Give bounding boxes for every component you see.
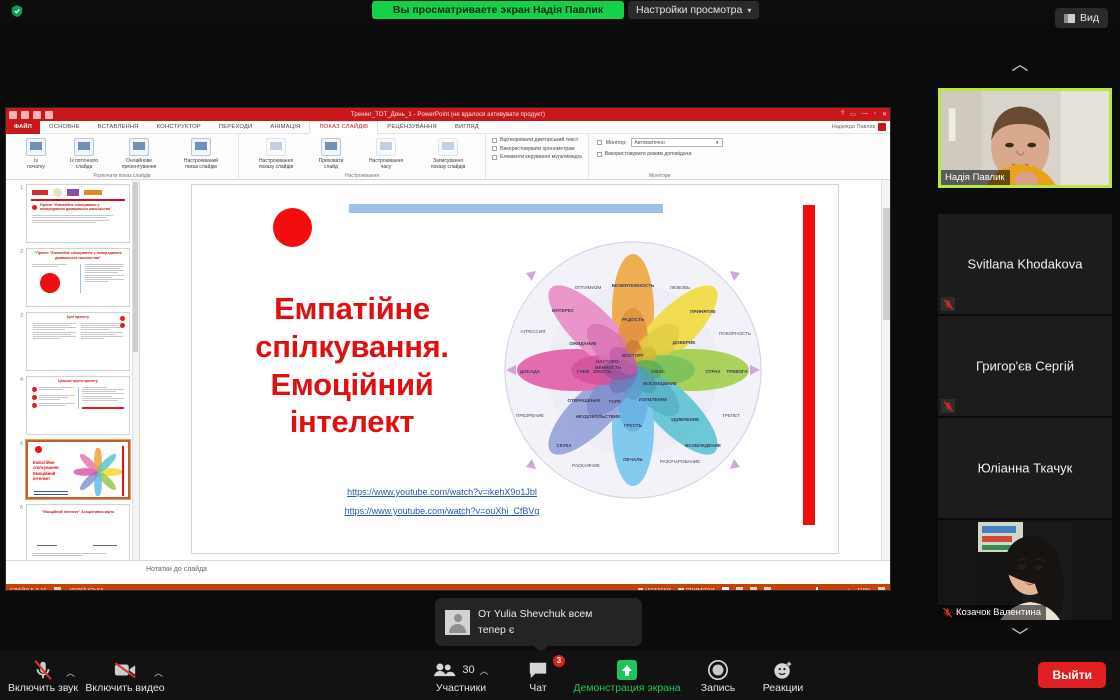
svg-text:ГНЕВ: ГНЕВ bbox=[577, 369, 590, 374]
checkbox-icon bbox=[597, 152, 602, 157]
svg-text:БЕЗМЯТЕЖНОСТЬ: БЕЗМЯТЕЖНОСТЬ bbox=[612, 283, 655, 288]
grid-view-icon bbox=[1064, 14, 1075, 23]
thumbnail-title: Цілі проекту bbox=[27, 313, 129, 320]
office-account[interactable]: Надежда Павлик bbox=[832, 123, 886, 131]
status-right[interactable]: НОТАТКИ ПРИМІТКИ − + 110% bbox=[638, 587, 885, 590]
smiley-plus-icon bbox=[740, 658, 826, 682]
from-current-slide-icon bbox=[74, 138, 94, 156]
present-online-label: Онлайнове презентування bbox=[122, 158, 156, 170]
chevron-down-icon: ▾ bbox=[747, 6, 751, 15]
thumbnail-number: 5 bbox=[16, 440, 23, 447]
checkbox-presenter-view[interactable]: Використовувати режим доповідача bbox=[597, 151, 723, 157]
participant-name: Козачок Валентина bbox=[956, 607, 1041, 618]
participant-name: Надія Павлик bbox=[945, 172, 1005, 183]
view-button-label: Вид bbox=[1080, 12, 1099, 24]
checkbox-media-controls[interactable]: Елементи керування мультимедіа bbox=[492, 154, 582, 160]
record-show-label: Записування показу слайдів bbox=[431, 158, 465, 170]
hide-slide-label: Приховати слайд bbox=[319, 158, 344, 170]
svg-text:ГРУСТЬ: ГРУСТЬ bbox=[624, 423, 642, 428]
view-reading-icon[interactable] bbox=[750, 587, 757, 590]
maximize-icon[interactable]: ▫ bbox=[874, 111, 876, 118]
slide-thumbnail-5-selected[interactable]: Емпатійне спілкування. Емоційний інтелек… bbox=[26, 440, 130, 499]
monitor-label: Монітор: bbox=[606, 140, 627, 146]
emotion-wheel-chart: РАДОСТЬ ДОВЕРИЕ СТРАХ УДИВЛЕНИЕ ГРУСТЬ О… bbox=[488, 225, 778, 515]
ribbon-button-from-current[interactable]: Із поточного слайда bbox=[60, 136, 108, 171]
monitor-icon bbox=[597, 140, 602, 145]
svg-text:НЕУДОВОЛЬСТВИЕ: НЕУДОВОЛЬСТВИЕ bbox=[576, 414, 621, 419]
ribbon-tab-animations[interactable]: АНІМАЦІЯ bbox=[261, 121, 309, 134]
svg-text:СКУКА: СКУКА bbox=[556, 443, 572, 448]
svg-text:ПРИНЯТИЕ: ПРИНЯТИЕ bbox=[690, 309, 715, 314]
thumbnail-title: "Емоційний інтелект" Асоціативна карта bbox=[27, 505, 129, 515]
slide-decor-red-circle bbox=[273, 208, 312, 247]
slide-counter: СЛАЙД 5 З 16 bbox=[10, 588, 46, 591]
participants-icon: 30 ︿ bbox=[418, 658, 504, 682]
thumbnail-title: Проект "Емпатійне спілкування у попередж… bbox=[40, 203, 124, 213]
thumbnail-title: Емпатійне спілкування. Емоційний інтелек… bbox=[33, 460, 71, 482]
thumbnail-title: "Проект "Емпатійне спілкування у поперед… bbox=[27, 249, 129, 261]
view-options-label: Настройки просмотра bbox=[636, 4, 742, 16]
participant-name-badge: Козачок Валентина bbox=[938, 605, 1046, 620]
thumbnail-emotion-wheel-icon bbox=[74, 448, 122, 496]
participant-tile-active[interactable]: Надія Павлик bbox=[938, 88, 1112, 188]
slide-scrollbar[interactable] bbox=[881, 180, 890, 560]
slide-thumbnail-3[interactable]: Цілі проекту bbox=[26, 312, 130, 371]
powerpoint-title-bar: Тренінг_ТОТ_День_1 - PowerPoint (не вдал… bbox=[6, 108, 890, 121]
svg-text:ТРЕВОГА: ТРЕВОГА bbox=[726, 369, 748, 374]
svg-text:ЖЕННОСТЬ: ЖЕННОСТЬ bbox=[594, 365, 622, 370]
play-narrations-label: Відтворювати дикторський текст bbox=[500, 137, 578, 143]
thumbnail-row[interactable]: 4 Цільові групи проекту bbox=[16, 376, 135, 435]
thumbnail-row[interactable]: 2 "Проект "Емпатійне спілкування у попер… bbox=[16, 248, 135, 307]
participant-name: Григор'єв Сергій bbox=[938, 359, 1112, 374]
zoom-in-button[interactable]: + bbox=[847, 588, 850, 591]
svg-text:ГОРЕ: ГОРЕ bbox=[609, 399, 621, 404]
plutchik-wheel-svg: РАДОСТЬ ДОВЕРИЕ СТРАХ УДИВЛЕНИЕ ГРУСТЬ О… bbox=[488, 225, 778, 515]
layout-view-button[interactable]: Вид bbox=[1055, 8, 1108, 28]
checkbox-icon bbox=[492, 138, 497, 143]
rehearse-label: Настроювання часу bbox=[369, 158, 403, 170]
view-sorter-icon[interactable] bbox=[736, 587, 743, 590]
custom-show-label: Настроюваний показ слайдів bbox=[184, 158, 218, 170]
thumbnail-row[interactable]: 3 Цілі проекту bbox=[16, 312, 135, 371]
zoom-level: 110% bbox=[857, 588, 871, 591]
slide-thumbnail-6[interactable]: "Емоційний інтелект" Асоціативна карта bbox=[26, 504, 130, 560]
microphone-off-icon bbox=[943, 299, 954, 310]
notes-button-label: НОТАТКИ bbox=[645, 588, 671, 591]
from-beginning-label: Із початку bbox=[27, 158, 45, 170]
ribbon-tab-design[interactable]: КОНСТРУКТОР bbox=[148, 121, 210, 134]
svg-text:ИЗУМЛЕНИЕ: ИЗУМЛЕНИЕ bbox=[639, 397, 668, 402]
slide-decor-red-bar bbox=[803, 205, 815, 525]
presenter-view-label: Використовувати режим доповідача bbox=[605, 151, 692, 157]
current-slide[interactable]: Емпатійне спілкування. Емоційний інтелек… bbox=[191, 184, 839, 554]
svg-text:ЛЮБОВЬ: ЛЮБОВЬ bbox=[670, 285, 690, 290]
participant-name: Svitlana Khodakova bbox=[938, 257, 1112, 272]
chevron-down-icon: ▾ bbox=[716, 140, 719, 146]
powerpoint-status-bar[interactable]: СЛАЙД 5 З 16 УКРАЇНСЬКА НОТАТКИ ПРИМІТКИ… bbox=[6, 584, 890, 590]
slide-thumbnail-1[interactable]: Проект "Емпатійне спілкування у попередж… bbox=[26, 184, 130, 243]
help-icon[interactable]: ? bbox=[841, 111, 844, 118]
from-current-label: Із поточного слайда bbox=[70, 158, 98, 170]
chat-toast-body: От Yulia Shevchuk всем тепер є bbox=[478, 606, 592, 639]
status-comments-button[interactable]: ПРИМІТКИ bbox=[678, 588, 715, 591]
shared-powerpoint-window[interactable]: Тренінг_ТОТ_День_1 - PowerPoint (не вдал… bbox=[6, 108, 890, 590]
svg-text:ОПТИМИЗМ: ОПТИМИЗМ bbox=[575, 285, 602, 290]
notes-placeholder: Нотатки до слайда bbox=[146, 566, 207, 573]
checkbox-icon bbox=[492, 155, 497, 160]
slide-thumbnail-panel[interactable]: 1 Проект "Емпатійне спілкування у попере… bbox=[6, 180, 140, 560]
notes-pane[interactable]: Нотатки до слайда bbox=[6, 560, 890, 584]
reactions-button-label: Реакции bbox=[740, 682, 826, 695]
slide-scrollbar-handle[interactable] bbox=[883, 208, 890, 320]
monitor-select[interactable]: Автоматично ▾ bbox=[631, 138, 723, 147]
close-icon[interactable]: ✕ bbox=[882, 111, 887, 118]
ribbon-button-from-beginning[interactable]: Із початку bbox=[12, 136, 60, 171]
thumbnail-number: 4 bbox=[16, 376, 23, 383]
svg-text:ВОСТОРГ: ВОСТОРГ bbox=[622, 353, 644, 358]
thumbnail-number: 2 bbox=[16, 248, 23, 255]
ribbon-button-rehearse-timings[interactable]: Настроювання часу bbox=[355, 136, 417, 171]
view-normal-icon[interactable] bbox=[722, 587, 729, 590]
screen-sharing-banner: Вы просматриваете экран Надія Павлик bbox=[372, 1, 624, 19]
checkbox-use-timings[interactable]: Використовувати хронометраж bbox=[492, 146, 582, 152]
svg-text:ДОСАДА: ДОСАДА bbox=[520, 369, 541, 374]
participants-count: 30 bbox=[462, 664, 474, 676]
ribbon-checkbox-group[interactable]: Відтворювати дикторський текст Використо… bbox=[486, 134, 589, 180]
audio-options-caret[interactable]: ︿ bbox=[66, 666, 75, 679]
ribbon-tab-slideshow[interactable]: ПОКАЗ СЛАЙДІВ bbox=[309, 121, 378, 134]
shield-check-icon bbox=[10, 4, 24, 18]
ribbon-tab-home[interactable]: ОСНОВНЕ bbox=[40, 121, 89, 134]
svg-text:РАЗОЧАРОВАНИЕ: РАЗОЧАРОВАНИЕ bbox=[660, 459, 700, 464]
svg-text:УДИВЛЕНИЕ: УДИВЛЕНИЕ bbox=[671, 417, 699, 422]
notes-icon bbox=[638, 588, 643, 591]
ribbon-tab-transitions[interactable]: ПЕРЕХОДИ bbox=[210, 121, 262, 134]
status-left: СЛАЙД 5 З 16 УКРАЇНСЬКА bbox=[10, 587, 104, 590]
ribbon-button-present-online[interactable]: Онлайнове презентування bbox=[108, 136, 170, 171]
status-notes-button[interactable]: НОТАТКИ bbox=[638, 588, 671, 591]
minimize-icon[interactable]: — bbox=[862, 111, 868, 118]
media-controls-label: Елементи керування мультимедіа bbox=[500, 154, 582, 160]
slide-decor-blue-bar bbox=[349, 204, 663, 213]
svg-text:ИНТЕРЕС: ИНТЕРЕС bbox=[552, 308, 575, 313]
from-beginning-icon bbox=[26, 138, 46, 156]
mute-button-label: Включить звук bbox=[0, 682, 86, 695]
chat-toast-sender: От Yulia Shevchuk всем bbox=[478, 606, 592, 622]
record-slideshow-icon bbox=[438, 138, 458, 156]
comments-button-label: ПРИМІТКИ bbox=[686, 588, 715, 591]
comments-icon bbox=[678, 588, 684, 590]
ribbon-tabs[interactable]: ФАЙЛ ОСНОВНЕ ВСТАВЛЕННЯ КОНСТРУКТОР ПЕРЕ… bbox=[6, 121, 890, 134]
svg-text:ПОКОРНОСТЬ: ПОКОРНОСТЬ bbox=[719, 331, 751, 336]
video-options-caret[interactable]: ︿ bbox=[154, 666, 163, 679]
thumbnail-number: 1 bbox=[16, 184, 23, 191]
top-bar: Вы просматриваете экран Надія Павлик Нас… bbox=[0, 0, 1120, 22]
video-button-label: Включить видео bbox=[82, 682, 168, 695]
ribbon-tab-insert[interactable]: ВСТАВЛЕННЯ bbox=[89, 121, 148, 134]
ribbon-options-icon[interactable]: ▭ bbox=[850, 111, 856, 118]
svg-text:ОТВРАЩЕНИЕ: ОТВРАЩЕНИЕ bbox=[567, 398, 600, 403]
filmstrip-scroll-down[interactable]: ﹀ bbox=[920, 628, 1120, 645]
meeting-toolbar[interactable]: Включить звук ︿ Включить видео ︿ bbox=[0, 650, 1120, 700]
powerpoint-body: 1 Проект "Емпатійне спілкування у попере… bbox=[6, 180, 890, 560]
participant-tile-5[interactable]: Козачок Валентина bbox=[938, 520, 1112, 620]
participant-mute-indicator bbox=[941, 399, 955, 413]
slide-stage: Емпатійне спілкування. Емоційний інтелек… bbox=[140, 180, 890, 560]
participant-mute-indicator bbox=[941, 297, 955, 311]
rehearse-timings-icon bbox=[376, 138, 396, 156]
microphone-off-icon bbox=[942, 607, 953, 618]
ribbon-tab-view[interactable]: ВИГЛЯД bbox=[446, 121, 488, 134]
zoom-meeting-window: Вы просматриваете экран Надія Павлик Нас… bbox=[0, 0, 1120, 700]
account-name: Надежда Павлик bbox=[832, 124, 875, 130]
ribbon-monitors-label: Монітори bbox=[589, 173, 731, 179]
powerpoint-title: Тренінг_ТОТ_День_1 - PowerPoint (не вдал… bbox=[6, 112, 890, 118]
svg-text:АГРЕССИЯ: АГРЕССИЯ bbox=[521, 329, 546, 334]
chevron-down-icon: ﹀ bbox=[1012, 627, 1029, 646]
ribbon-content[interactable]: Із початку Із поточного слайда Онлайнове… bbox=[6, 134, 890, 180]
svg-text:ПЕЧАЛЬ: ПЕЧАЛЬ bbox=[623, 457, 643, 462]
ribbon-button-setup-show[interactable]: Настроювання показу слайдів bbox=[245, 136, 307, 171]
svg-text:УЖАС: УЖАС bbox=[651, 369, 665, 374]
svg-text:ОЖИДАНИЕ: ОЖИДАНИЕ bbox=[569, 341, 596, 346]
ribbon-group-monitors: Монітор: Автоматично ▾ Використовувати р… bbox=[589, 134, 731, 180]
microphone-off-icon bbox=[943, 401, 954, 412]
chat-toast-message: тепер є bbox=[478, 622, 592, 638]
thumbnail-number: 6 bbox=[16, 504, 23, 511]
ribbon-tab-file[interactable]: ФАЙЛ bbox=[6, 121, 40, 134]
ribbon-group2-label: Настроювання bbox=[239, 173, 485, 179]
monitor-selected-value: Автоматично bbox=[635, 140, 665, 146]
toolbar-participants-button[interactable]: 30 ︿ Участники bbox=[418, 658, 504, 695]
checkbox-icon bbox=[492, 146, 497, 151]
svg-text:ДОВЕРИЕ: ДОВЕРИЕ bbox=[673, 340, 696, 345]
participant-filmstrip[interactable]: ︿ Надія Павлик Svitlana Khod bbox=[920, 22, 1120, 650]
svg-text:ВОЗБУЖДЕНИЕ: ВОЗБУЖДЕНИЕ bbox=[685, 443, 721, 448]
spellcheck-icon[interactable] bbox=[54, 587, 61, 590]
leave-meeting-button[interactable]: Выйти bbox=[1038, 662, 1106, 688]
chat-notification-toast[interactable]: От Yulia Shevchuk всем тепер є bbox=[435, 598, 642, 646]
present-online-icon bbox=[129, 138, 149, 156]
fit-to-window-icon[interactable] bbox=[878, 587, 885, 590]
svg-text:НАСТОРО-: НАСТОРО- bbox=[596, 359, 621, 364]
user-avatar-icon bbox=[445, 610, 470, 635]
svg-text:РАДОСТЬ: РАДОСТЬ bbox=[622, 317, 645, 322]
toolbar-reactions-button[interactable]: Реакции bbox=[740, 658, 826, 695]
zoom-slider-handle[interactable] bbox=[816, 587, 818, 590]
view-options-button[interactable]: Настройки просмотра ▾ bbox=[628, 1, 759, 19]
svg-text:ПРЕЗРЕНИЕ: ПРЕЗРЕНИЕ bbox=[516, 413, 544, 418]
thumbnail-scrollbar[interactable] bbox=[132, 180, 139, 560]
svg-text:РАСКАЯНИЕ: РАСКАЯНИЕ bbox=[572, 463, 600, 468]
participant-name-badge: Надія Павлик bbox=[941, 170, 1010, 185]
slide-thumbnail-2[interactable]: "Проект "Емпатійне спілкування у поперед… bbox=[26, 248, 130, 307]
setup-show-label: Настроювання показу слайдів bbox=[259, 158, 293, 170]
ribbon-group1-label: Розпочати показ слайдів bbox=[6, 173, 238, 179]
participants-button-label: Участники bbox=[418, 682, 504, 695]
slide-thumbnail-4[interactable]: Цільові групи проекту bbox=[26, 376, 130, 435]
ribbon-group-setup: Настроювання показу слайдів Приховати сл… bbox=[239, 134, 486, 180]
monitor-row[interactable]: Монітор: Автоматично ▾ bbox=[597, 138, 723, 147]
participant-tile-4[interactable]: Юліанна Ткачук bbox=[938, 418, 1112, 518]
participant-name: Юліанна Ткачук bbox=[938, 461, 1112, 476]
checkbox-play-narrations[interactable]: Відтворювати дикторський текст bbox=[492, 137, 582, 143]
thumbnail-scrollbar-handle[interactable] bbox=[133, 182, 138, 352]
thumbnail-row[interactable]: 6 "Емоційний інтелект" Асоціативна карта bbox=[16, 504, 135, 560]
hide-slide-icon bbox=[321, 138, 341, 156]
sharing-banner-text: Вы просматриваете экран Надія Павлик bbox=[393, 4, 603, 16]
thumbnail-row[interactable]: 1 Проект "Емпатійне спілкування у попере… bbox=[16, 184, 135, 243]
ribbon-tab-review[interactable]: РЕЦЕНЗУВАННЯ bbox=[378, 121, 446, 134]
zoom-out-button[interactable]: − bbox=[778, 588, 781, 591]
account-avatar-icon bbox=[878, 123, 886, 131]
thumbnail-row[interactable]: 5 Емпатійне спілкування. Емоційний інтел… bbox=[16, 440, 135, 499]
ribbon-button-hide-slide[interactable]: Приховати слайд bbox=[307, 136, 355, 171]
chevron-up-icon: ︿ bbox=[1012, 55, 1029, 74]
language-indicator[interactable]: УКРАЇНСЬКА bbox=[69, 588, 103, 591]
participant-tile-3[interactable]: Григор'єв Сергій bbox=[938, 316, 1112, 416]
thumbnail-title: Цільові групи проекту bbox=[27, 377, 129, 384]
svg-text:ТРЕПЕТ: ТРЕПЕТ bbox=[722, 413, 740, 418]
ribbon-button-custom-show[interactable]: Настроюваний показ слайдів bbox=[170, 136, 232, 171]
thumbnail-number: 3 bbox=[16, 312, 23, 319]
ribbon-button-record-show[interactable]: Записування показу слайдів bbox=[417, 136, 479, 171]
slide-heading: Емпатійне спілкування. Емоційний інтелек… bbox=[222, 290, 482, 441]
ribbon-group-start-slideshow: Із початку Із поточного слайда Онлайнове… bbox=[6, 134, 239, 180]
participant-tile-2[interactable]: Svitlana Khodakova bbox=[938, 214, 1112, 314]
filmstrip-scroll-up[interactable]: ︿ bbox=[920, 56, 1120, 73]
window-controls[interactable]: ? ▭ — ▫ ✕ bbox=[841, 111, 887, 118]
participants-caret-icon[interactable]: ︿ bbox=[480, 664, 489, 677]
view-slideshow-icon[interactable] bbox=[764, 587, 771, 590]
svg-text:СТРАХ: СТРАХ bbox=[705, 369, 721, 374]
setup-slideshow-icon bbox=[266, 138, 286, 156]
svg-text:ВОСХИЩЕНИЕ: ВОСХИЩЕНИЕ bbox=[643, 381, 677, 386]
custom-slideshow-icon bbox=[191, 138, 211, 156]
use-timings-label: Використовувати хронометраж bbox=[500, 146, 575, 152]
